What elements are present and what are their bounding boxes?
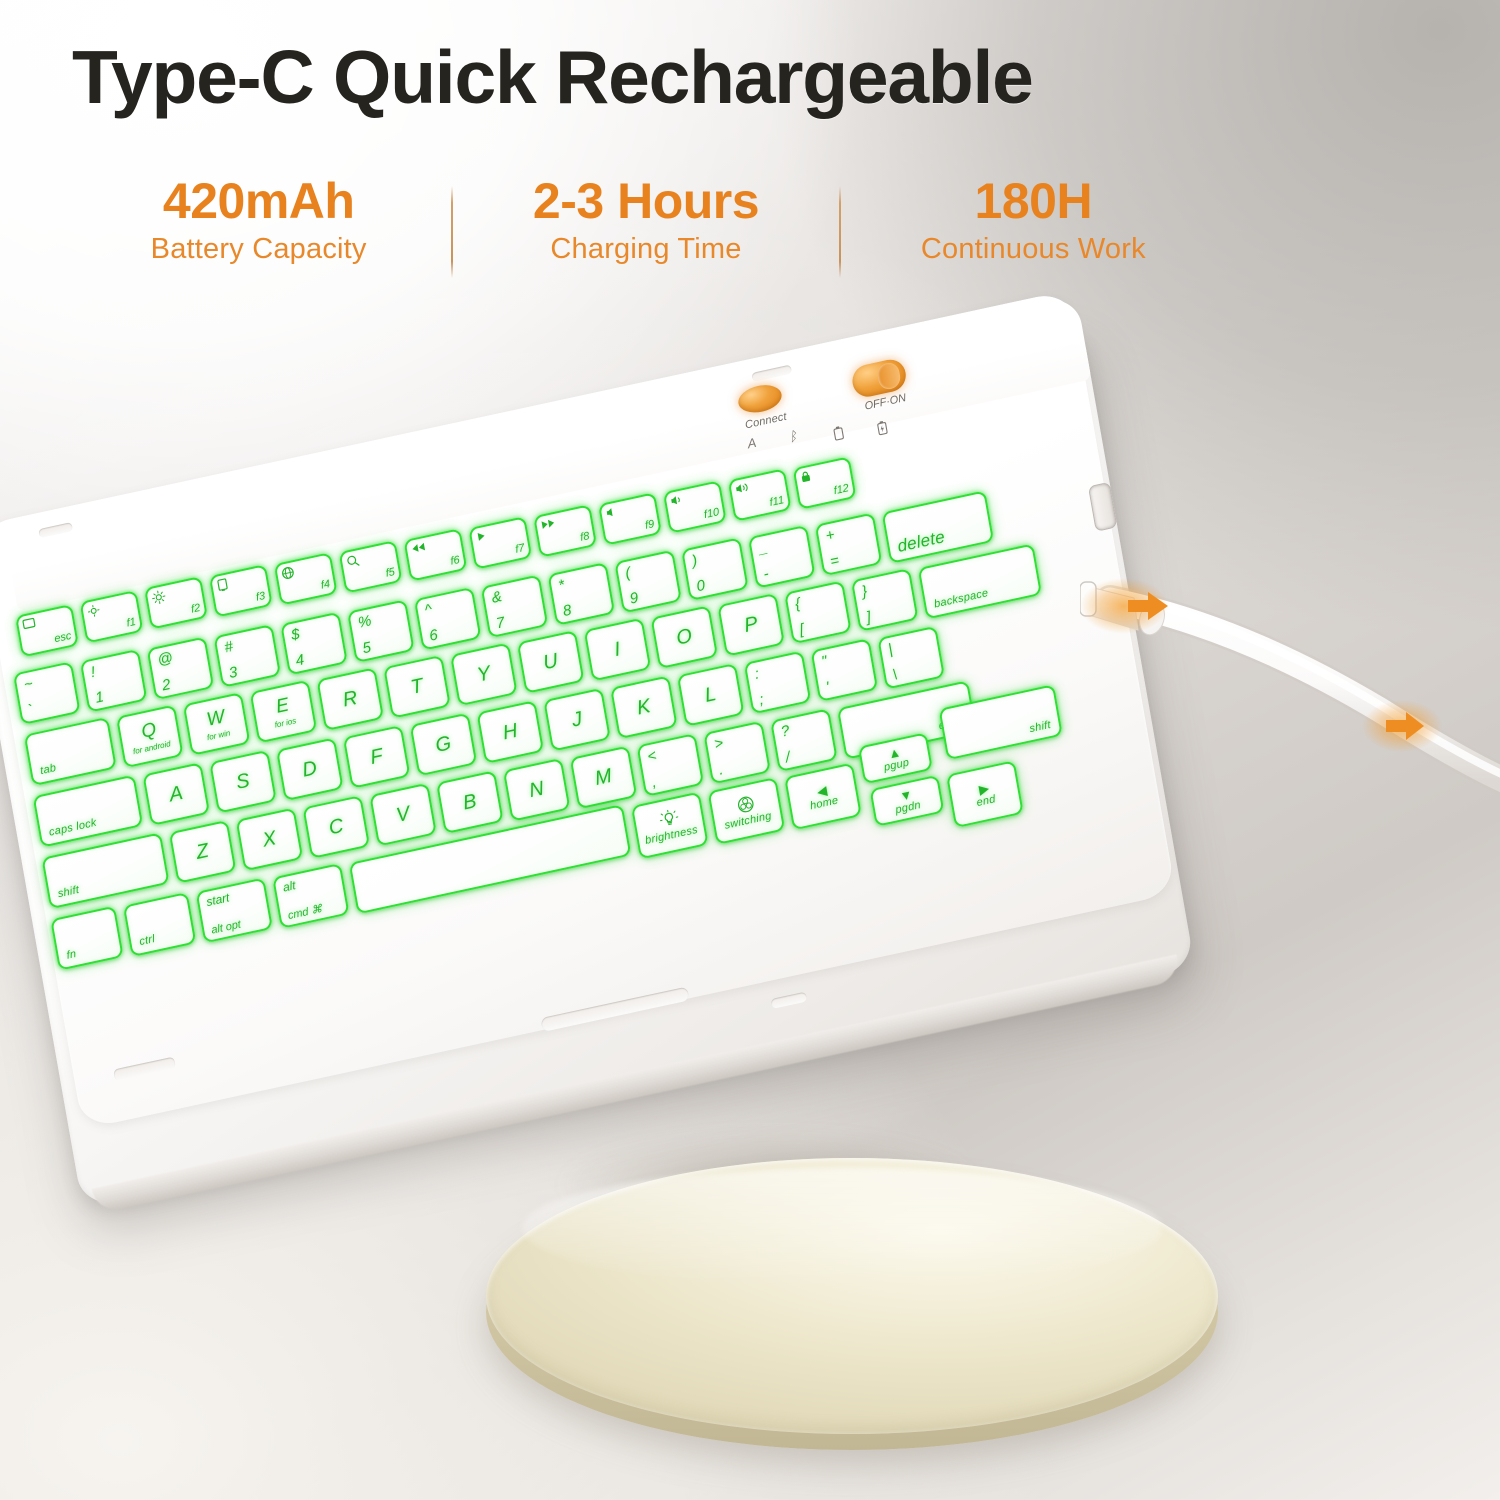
key-label: backspace [933,588,989,611]
key-legend-base: Y [475,663,492,686]
key-legend-base: = [829,553,840,570]
screen-icon [22,610,69,633]
key-f6[interactable]: f6 [403,528,467,582]
key-6[interactable]: ^ 6 [414,587,482,651]
key-x[interactable]: X [236,807,304,871]
key-f12[interactable]: f12 [793,456,857,510]
key-label: pgdn [895,800,922,816]
key-legend-base: 8 [562,603,573,620]
key-ctrl[interactable]: ctrl [123,892,197,957]
stat-label: Charging Time [550,233,741,266]
key-quote[interactable]: " ' [811,638,879,702]
key-c[interactable]: C [302,795,370,859]
key-legend-base: 0 [695,578,706,595]
key-l[interactable]: L [677,663,745,727]
key-shift-left[interactable]: shift [41,832,169,909]
key-label: end [976,794,997,809]
key-d[interactable]: D [276,737,344,801]
key-equals[interactable]: + = [815,512,883,576]
key-legend-shift: alt [282,879,296,894]
key-legend-shift: ( [624,565,631,581]
key-backtick[interactable]: ~ ` [13,661,81,725]
key-legend-shift: @ [156,650,173,668]
spec-stat-strip: 420mAh Battery Capacity 2-3 Hours Chargi… [66,176,1226,282]
key-1[interactable]: ! 1 [80,649,148,713]
key-legend-base: G [434,733,453,756]
key-legend-base: [ [798,622,805,638]
key-alt-cmd[interactable]: alt cmd ⌘ [272,863,349,929]
key-f1[interactable]: f1 [79,590,143,644]
key-label: f5 [349,567,396,588]
key-legend-base: E [274,694,290,718]
mute-icon [605,498,652,521]
key-legend-base: O [675,626,694,649]
key-legend-base: ; [758,692,765,708]
key-i[interactable]: I [584,618,652,682]
key-legend-base: S [235,770,252,793]
usb-c-cable [1080,560,1500,800]
key-legend-base: 5 [361,640,372,657]
key-f[interactable]: F [343,725,411,789]
key-legend-shift: % [357,613,373,631]
key-switching[interactable]: switching [708,777,786,845]
wireless-keyboard[interactable]: Connect OFF·ON A ᛒ [0,284,1215,1209]
key-legend-shift: > [713,735,724,752]
stat-battery-capacity: 420mAh Battery Capacity [66,176,451,282]
key-8[interactable]: * 8 [547,562,615,626]
key-v[interactable]: V [369,783,437,847]
key-label: f1 [90,617,137,638]
key-legend-base: Z [195,841,211,863]
key-legend-shift: | [887,642,893,658]
key-legend-base: V [395,803,412,826]
key-legend-shift: ~ [23,676,34,693]
key-legend-base: 7 [495,615,506,632]
key-period[interactable]: > . [703,721,771,785]
key-2[interactable]: @ 2 [147,636,215,700]
key-legend-base: 1 [94,689,105,706]
key-y[interactable]: Y [450,642,518,706]
key-label: tab [39,763,57,777]
key-4[interactable]: $ 4 [280,612,348,676]
key-comma[interactable]: < , [636,733,704,797]
key-label: f4 [284,579,331,600]
play-icon [475,522,522,545]
key-fn[interactable]: fn [50,906,124,971]
key-legend-shift: ^ [424,602,433,618]
key-q[interactable]: Q for android [116,704,184,768]
key-bracket-right[interactable]: } ] [851,568,919,632]
key-f9[interactable]: f9 [598,492,662,546]
key-label: caps lock [48,818,97,839]
key-label: f3 [219,591,266,612]
key-caps-lock[interactable]: caps lock [33,775,144,848]
rewind-icon [410,534,457,557]
key-legend-base: / [784,750,791,766]
key-z[interactable]: Z [169,820,237,884]
stat-continuous-work: 180H Continuous Work [841,176,1226,282]
key-label: f11 [738,495,785,516]
key-home-left-arrow[interactable]: ◀ home [784,762,862,830]
key-legend-shift: ! [90,665,97,681]
key-legend-base: Q [140,719,158,744]
key-label: brightness [644,825,698,847]
key-legend-base: C [327,816,345,839]
key-legend-base: J [570,709,584,731]
key-legend-base: F [369,746,385,768]
stat-label: Battery Capacity [151,233,367,266]
key-f5[interactable]: f5 [339,540,403,594]
key-legend-base: I [613,639,622,660]
key-backslash[interactable]: | \ [877,626,945,690]
key-label: delete [896,528,946,555]
key-legend-base: L [703,684,718,706]
product-feature-image: Type-C Quick Rechargeable 420mAh Battery… [0,0,1500,1500]
stat-value: 420mAh [163,176,355,227]
key-legend-base: 3 [228,665,239,682]
key-legend-base: H [501,721,519,744]
key-f11[interactable]: f11 [728,468,792,522]
key-legend-base: cmd ⌘ [287,904,323,922]
key-legend-base: A [168,783,185,806]
key-pgdn-down-arrow[interactable]: ▼ pgdn [869,775,944,827]
key-label: f8 [544,531,591,552]
key-label: home [809,795,839,812]
key-legend-shift: ? [780,723,791,740]
key-tab[interactable]: tab [24,717,117,786]
key-legend-base: 4 [295,652,306,669]
key-legend-base: ] [865,609,872,625]
key-legend-base: 2 [161,677,172,694]
key-9[interactable]: ( 9 [614,550,682,614]
key-minus[interactable]: _ - [748,525,816,589]
key-j[interactable]: J [543,688,611,752]
stat-value: 2-3 Hours [533,176,759,227]
key-label: switching [724,811,773,832]
key-a[interactable]: A [142,762,210,826]
key-legend-base: . [718,762,725,778]
key-legend-shift: + [825,527,836,544]
key-label: shift [1029,720,1052,735]
key-brightness[interactable]: brightness [631,791,709,859]
key-label: fn [66,949,77,962]
key-w[interactable]: W for win [183,692,251,756]
key-legend-shift: _ [758,540,769,557]
key-s[interactable]: S [209,750,277,814]
key-7[interactable]: & 7 [481,574,549,638]
key-legend-base: 6 [428,627,439,644]
volume-up-icon [734,474,781,497]
key-f3[interactable]: f3 [209,564,273,618]
key-o[interactable]: O [650,605,718,669]
key-legend-shift: # [223,639,234,656]
key-t[interactable]: T [383,655,451,719]
key-legend-base: K [635,696,652,719]
key-u[interactable]: U [517,630,585,694]
key-legend-base: R [341,688,359,711]
key-f2[interactable]: f2 [144,576,208,630]
key-legend-shift: & [490,589,502,606]
key-f10[interactable]: f10 [663,480,727,534]
key-legend-base: N [528,778,546,801]
key-p[interactable]: P [717,593,785,657]
key-label: f10 [673,507,720,528]
key-r[interactable]: R [316,667,384,731]
key-k[interactable]: K [610,675,678,739]
key-legend-shift: * [557,577,565,593]
key-f8[interactable]: f8 [533,504,597,558]
key-legend-shift: : [754,666,761,682]
key-label: esc [25,631,72,652]
key-g[interactable]: G [410,713,478,777]
key-legend-base: alt opt [211,919,242,936]
key-e[interactable]: E for ios [250,680,318,744]
key-legend-shift: } [861,584,869,600]
key-b[interactable]: B [436,770,504,834]
key-legend-shift: < [646,748,657,765]
key-n[interactable]: N [503,758,571,822]
key-h[interactable]: H [476,700,544,764]
key-slash[interactable]: ? / [770,708,838,772]
key-legend-shift: start [205,891,230,908]
key-legend-shift: $ [290,627,301,644]
fast-forward-icon [540,510,587,533]
key-legend-base: 9 [629,590,640,607]
volume-down-icon [670,486,717,509]
key-legend-base: T [409,676,425,698]
key-bracket-left[interactable]: { [ [784,580,852,644]
stat-charging-time: 2-3 Hours Charging Time [453,176,838,282]
key-label: shift [57,885,80,900]
key-legend-shift: ) [691,553,698,569]
key-legend-base: , [651,774,658,790]
key-legend-shift: { [794,596,802,612]
key-semicolon[interactable]: : ; [744,651,812,715]
key-5[interactable]: % 5 [347,599,415,663]
key-f4[interactable]: f4 [274,552,338,606]
stat-label: Continuous Work [921,233,1146,266]
key-legend-base: X [261,828,278,851]
key-backspace[interactable]: backspace [918,543,1042,619]
key-legend-shift: " [820,654,828,670]
key-start-altopt[interactable]: start alt opt [196,877,273,943]
key-legend-base: M [593,766,613,789]
key-label: f9 [608,519,655,540]
key-label: f7 [479,543,526,564]
key-3[interactable]: # 3 [213,624,281,688]
key-label: pgup [883,757,910,773]
key-legend-base: W [205,706,226,731]
key-f7[interactable]: f7 [468,516,532,570]
key-legend-base: ` [27,702,34,718]
key-legend-base: P [743,613,760,636]
key-delete[interactable]: delete [882,490,995,564]
key-legend-base: - [762,566,769,582]
key-legend-base: \ [892,667,899,683]
key-legend-base: D [301,758,319,781]
key-legend-base: U [542,651,560,674]
key-m[interactable]: M [570,745,638,809]
page-title: Type-C Quick Rechargeable [72,34,1033,120]
key-label: ctrl [139,934,156,948]
key-label: f6 [414,555,461,576]
key-end-right-arrow[interactable]: ▶ end [946,760,1024,828]
key-esc[interactable]: esc [15,604,79,658]
key-0[interactable]: ) 0 [681,537,749,601]
lock-icon [799,462,846,486]
key-legend-base: B [461,791,478,814]
key-legend-base: ' [825,680,830,695]
key-label: f12 [803,483,850,504]
stat-value: 180H [975,176,1093,227]
